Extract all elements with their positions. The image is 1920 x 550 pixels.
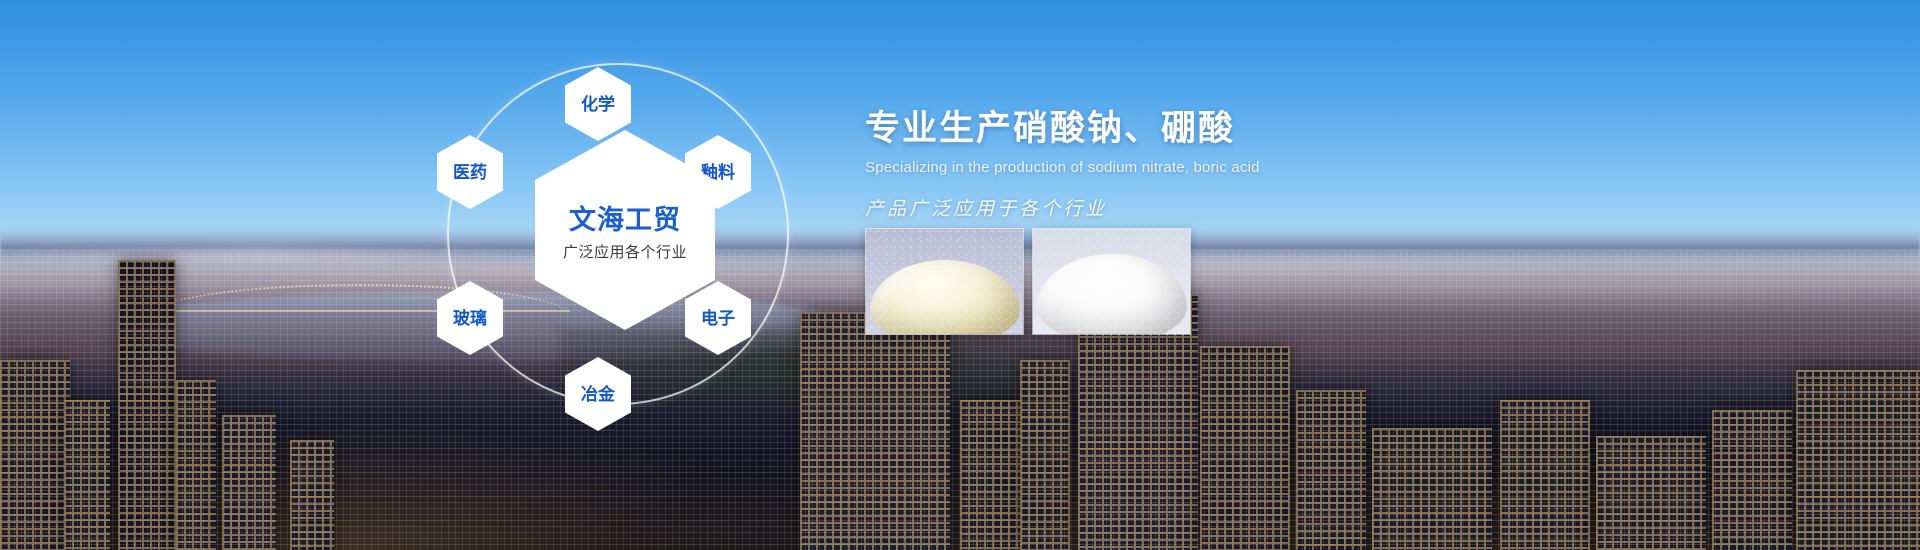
company-tagline: 广泛应用各个行业 xyxy=(563,241,687,262)
hex-node-label: 医药 xyxy=(453,164,487,181)
english-subline: Specializing in the production of sodium… xyxy=(865,159,1565,176)
industry-hex-diagram: 化学 釉料 电子 冶金 玻璃 医药 文海工贸 广泛应用各个行业 xyxy=(415,25,835,445)
hex-node-label: 化学 xyxy=(581,96,615,113)
powder-grain-texture xyxy=(1033,229,1190,334)
product-photo-sodium-nitrate[interactable] xyxy=(865,228,1024,335)
tagline: 产品广泛应用于各个行业 xyxy=(865,194,1565,221)
powder-grain-texture xyxy=(866,229,1023,334)
company-name: 文海工贸 xyxy=(569,198,681,237)
copy-block: 专业生产硝酸钠、硼酸 Specializing in the productio… xyxy=(865,100,1565,221)
headline: 专业生产硝酸钠、硼酸 xyxy=(865,100,1565,151)
hex-node-label: 玻璃 xyxy=(453,310,487,327)
product-photo-gallery xyxy=(865,228,1191,335)
hex-node-label: 电子 xyxy=(701,310,735,327)
hex-node-label: 冶金 xyxy=(581,386,615,403)
product-photo-boric-acid[interactable] xyxy=(1032,228,1191,335)
promo-banner: 化学 釉料 电子 冶金 玻璃 医药 文海工贸 广泛应用各个行业 专业生产硝酸钠、… xyxy=(0,0,1920,550)
